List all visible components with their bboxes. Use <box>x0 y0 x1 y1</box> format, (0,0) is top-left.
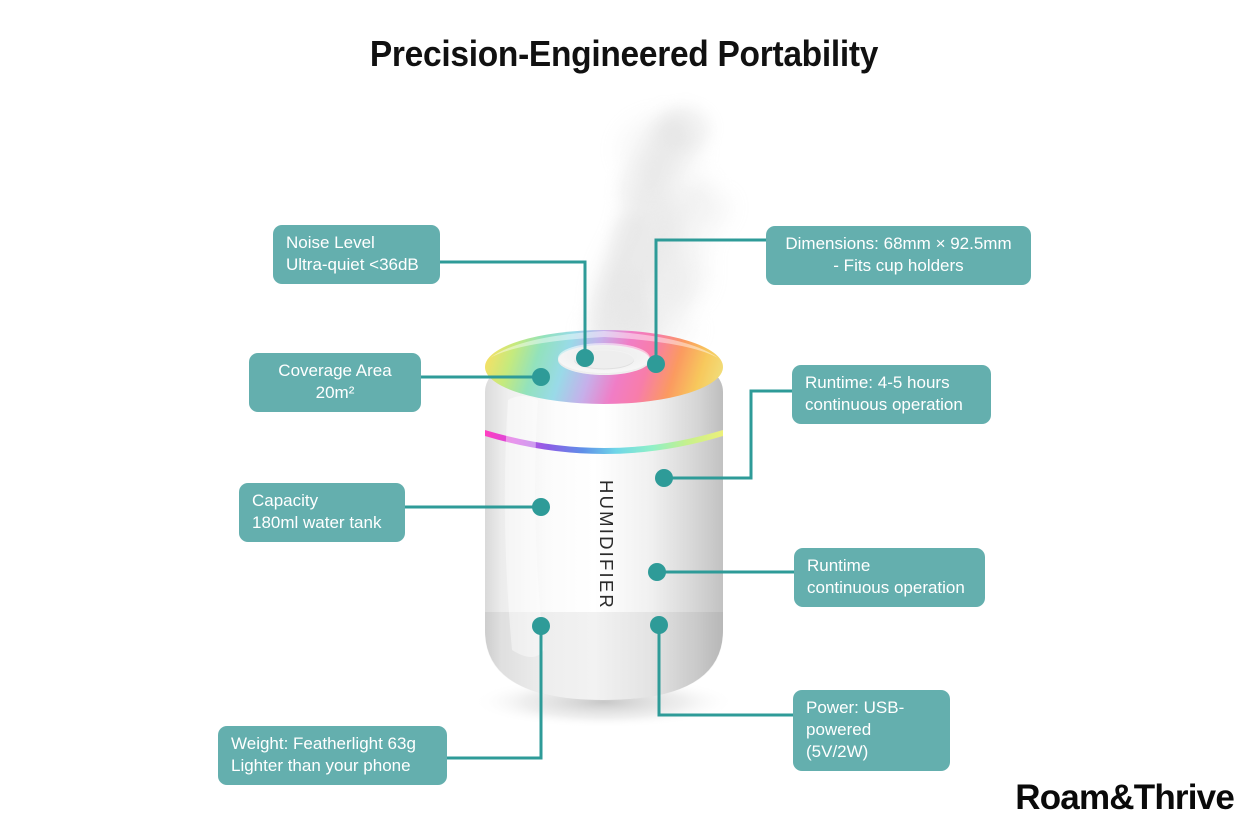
ground-shadow <box>472 676 736 728</box>
callout-power[interactable]: Power: USB- powered (5V/2W) <box>793 690 950 771</box>
callout-capacity[interactable]: Capacity 180ml water tank <box>239 483 405 542</box>
marker-dot-runtime-hours <box>655 469 673 487</box>
callout-noise-level[interactable]: Noise Level Ultra-quiet <36dB <box>273 225 440 284</box>
leader-lines-layer <box>0 0 1248 832</box>
infographic-canvas: Precision-Engineered Portability <box>0 0 1248 832</box>
humidifier-body <box>485 430 723 700</box>
callout-runtime-hours[interactable]: Runtime: 4-5 hours continuous operation <box>792 365 991 424</box>
leader-weight <box>447 626 541 758</box>
product-illustration: HUMIDIFIER <box>0 0 1248 832</box>
marker-dot-power <box>650 616 668 634</box>
mist-nozzle <box>558 345 650 375</box>
callout-runtime[interactable]: Runtime continuous operation <box>794 548 985 607</box>
marker-dot-weight <box>532 617 550 635</box>
leader-noise-level <box>440 262 585 358</box>
callout-dimensions[interactable]: Dimensions: 68mm × 92.5mm - Fits cup hol… <box>766 226 1031 285</box>
marker-dot-noise-level <box>576 349 594 367</box>
top-cap <box>485 330 723 404</box>
callout-weight[interactable]: Weight: Featherlight 63g Lighter than yo… <box>218 726 447 785</box>
mist-plume <box>582 106 731 352</box>
marker-dot-dimensions <box>647 355 665 373</box>
callout-coverage-area[interactable]: Coverage Area 20m² <box>249 353 421 412</box>
product-body-label: HUMIDIFIER <box>596 480 617 610</box>
marker-dot-runtime <box>648 563 666 581</box>
marker-dot-capacity <box>532 498 550 516</box>
page-title: Precision-Engineered Portability <box>44 33 1205 75</box>
brand-logo: Roam&Thrive <box>1015 778 1234 818</box>
leader-runtime-hours <box>664 391 792 478</box>
led-light-band <box>485 426 723 454</box>
marker-dot-coverage <box>532 368 550 386</box>
leader-power <box>659 625 793 715</box>
humidifier-shoulder <box>485 352 723 448</box>
leader-dimensions <box>656 240 766 364</box>
